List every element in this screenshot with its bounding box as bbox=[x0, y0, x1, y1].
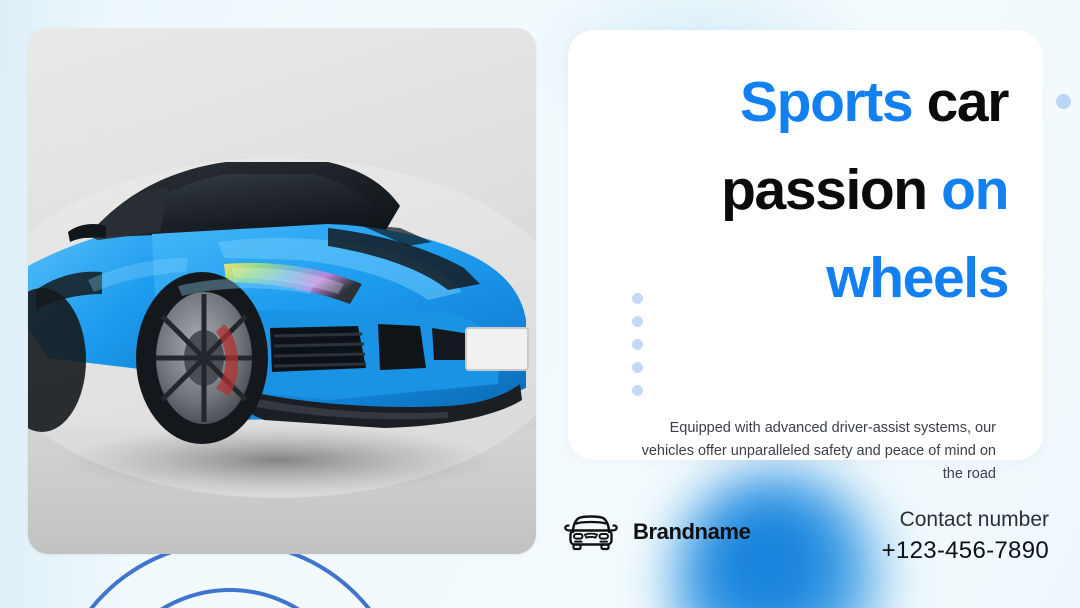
car-front-icon bbox=[562, 511, 620, 553]
decor-dot bbox=[632, 339, 643, 350]
headline-plain-car: car bbox=[912, 70, 1008, 134]
page-title: Sports car passion on wheels bbox=[604, 58, 1008, 322]
headline-accent-on: on bbox=[941, 158, 1008, 222]
decor-dot bbox=[632, 293, 643, 304]
content-card: Sports car passion on wheels Equipped wi… bbox=[568, 30, 1043, 460]
headline-line-2: passion on bbox=[604, 146, 1008, 234]
contact-label: Contact number bbox=[882, 505, 1049, 535]
headline-plain-passion: passion bbox=[721, 158, 941, 222]
body-copy: Equipped with advanced driver-assist sys… bbox=[620, 417, 996, 486]
decor-dot bbox=[632, 385, 643, 396]
contact-block: Contact number +123-456-7890 bbox=[882, 505, 1049, 567]
decor-dot bbox=[632, 316, 643, 327]
contact-number[interactable]: +123-456-7890 bbox=[882, 535, 1049, 567]
brand-lockup[interactable]: Brandname bbox=[562, 511, 750, 553]
headline-line-3: wheels bbox=[604, 234, 1008, 322]
headline-line-1: Sports car bbox=[604, 58, 1008, 146]
brand-name: Brandname bbox=[633, 519, 750, 545]
headline-accent-sports: Sports bbox=[740, 70, 912, 134]
poster-canvas: Sports car passion on wheels Equipped wi… bbox=[0, 0, 1080, 608]
corner-dot-decoration bbox=[1056, 94, 1071, 109]
decor-dot bbox=[632, 362, 643, 373]
dot-list-decoration bbox=[632, 293, 643, 396]
headline-accent-wheels: wheels bbox=[826, 246, 1008, 310]
car-photo bbox=[28, 28, 536, 554]
